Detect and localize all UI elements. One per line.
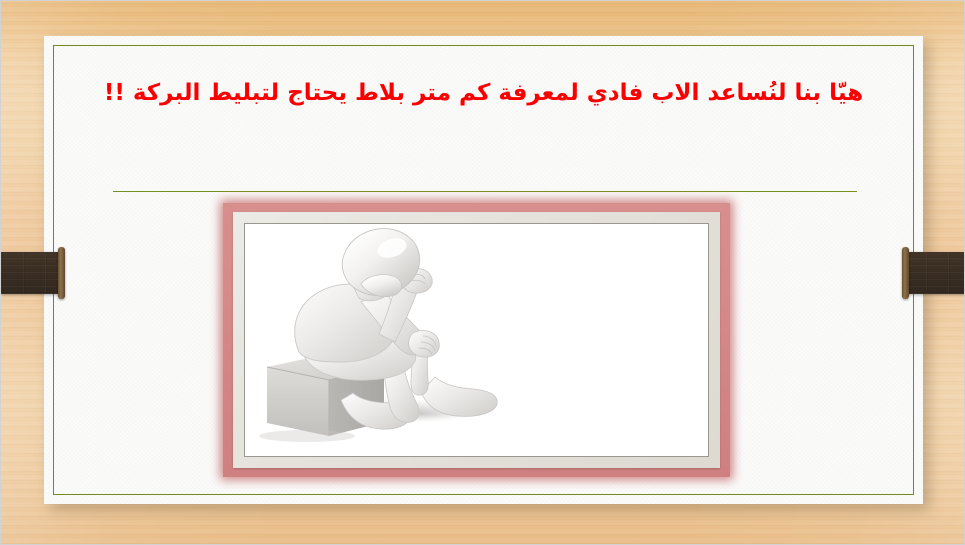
accent-bar-right-cap — [902, 247, 909, 299]
accent-bar-left — [1, 252, 63, 294]
title-divider — [113, 191, 857, 192]
accent-bar-left-cap — [58, 247, 65, 299]
thinking-figure-illustration — [245, 224, 708, 456]
accent-bar-right — [904, 252, 965, 294]
picture-frame[interactable] — [220, 200, 733, 480]
slide-canvas: هيّا بنا لنُساعد الاب فادي لمعرفة كم متر… — [0, 0, 965, 545]
slide-title: هيّا بنا لنُساعد الاب فادي لمعرفة كم متر… — [53, 77, 914, 109]
picture-canvas — [245, 224, 708, 456]
